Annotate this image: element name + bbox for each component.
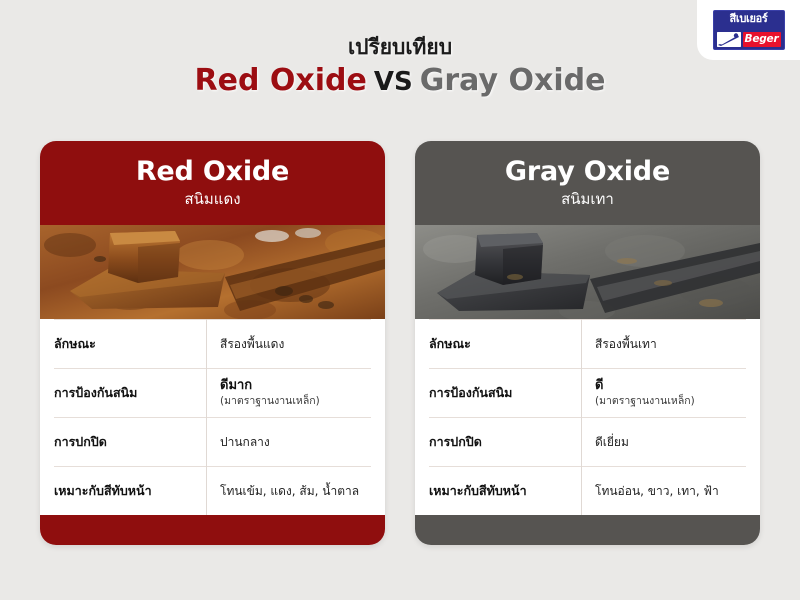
table-row: ลักษณะ สีรองพื้นเทา (429, 319, 746, 368)
table-row: เหมาะกับสีทับหน้า โทนอ่อน, ขาว, เทา, ฟ้า (429, 466, 746, 515)
table-row: การป้องกันสนิม ดีมาก (มาตราฐานงานเหล็ก) (54, 368, 371, 417)
row-value: โทนอ่อน, ขาว, เทา, ฟ้า (581, 483, 746, 499)
card-footer-bar (415, 515, 760, 545)
row-value: สีรองพื้นแดง (206, 336, 371, 352)
table-row: การปกปิด ปานกลาง (54, 417, 371, 466)
card-title: Gray Oxide (505, 157, 670, 187)
card-header-gray-oxide: Gray Oxide สนิมเทา (415, 141, 760, 225)
row-label: การป้องกันสนิม (429, 385, 581, 401)
row-value-note: (มาตราฐานงานเหล็ก) (595, 395, 746, 408)
row-label: ลักษณะ (54, 336, 206, 352)
card-subtitle: สนิมแดง (184, 190, 240, 210)
row-label: เหมาะกับสีทับหน้า (54, 483, 206, 499)
card-photo-red-oxide (40, 225, 385, 319)
row-label: ลักษณะ (429, 336, 581, 352)
heading-kicker: เปรียบเทียบ (0, 34, 800, 60)
card-table-red-oxide: ลักษณะ สีรองพื้นแดง การป้องกันสนิม ดีมาก… (40, 319, 385, 515)
heading-right-label: Gray Oxide (420, 63, 606, 98)
card-photo-gray-oxide (415, 225, 760, 319)
row-value: ดีมาก (มาตราฐานงานเหล็ก) (206, 378, 371, 407)
card-header-red-oxide: Red Oxide สนิมแดง (40, 141, 385, 225)
row-value: โทนเข้ม, แดง, ส้ม, น้ำตาล (206, 483, 371, 499)
table-vertical-divider (206, 319, 207, 515)
row-value: สีรองพื้นเทา (581, 336, 746, 352)
card-red-oxide: Red Oxide สนิมแดง (40, 141, 385, 545)
table-vertical-divider (581, 319, 582, 515)
row-label: การปกปิด (429, 434, 581, 450)
page-heading: เปรียบเทียบ Red OxideVSGray Oxide (0, 34, 800, 100)
row-value: ดีเยี่ยม (581, 434, 746, 450)
row-label: การป้องกันสนิม (54, 385, 206, 401)
heading-main: Red OxideVSGray Oxide (0, 62, 800, 100)
row-value-strong: ดี (595, 378, 746, 394)
table-row: เหมาะกับสีทับหน้า โทนเข้ม, แดง, ส้ม, น้ำ… (54, 466, 371, 515)
heading-separator: VS (374, 67, 413, 97)
heading-left-label: Red Oxide (195, 63, 367, 98)
row-value: ดี (มาตราฐานงานเหล็ก) (581, 378, 746, 407)
row-value: ปานกลาง (206, 434, 371, 450)
table-row: การปกปิด ดีเยี่ยม (429, 417, 746, 466)
card-gray-oxide: Gray Oxide สนิมเทา (415, 141, 760, 545)
table-row: ลักษณะ สีรองพื้นแดง (54, 319, 371, 368)
card-footer-bar (40, 515, 385, 545)
table-row: การป้องกันสนิม ดี (มาตราฐานงานเหล็ก) (429, 368, 746, 417)
row-label: เหมาะกับสีทับหน้า (429, 483, 581, 499)
card-title: Red Oxide (136, 157, 289, 187)
row-value-note: (มาตราฐานงานเหล็ก) (220, 395, 371, 408)
row-value-strong: ดีมาก (220, 378, 371, 394)
row-label: การปกปิด (54, 434, 206, 450)
card-subtitle: สนิมเทา (561, 190, 614, 210)
card-table-gray-oxide: ลักษณะ สีรองพื้นเทา การป้องกันสนิม ดี (ม… (415, 319, 760, 515)
logo-thai-text: สีเบเยอร์ (717, 13, 781, 24)
